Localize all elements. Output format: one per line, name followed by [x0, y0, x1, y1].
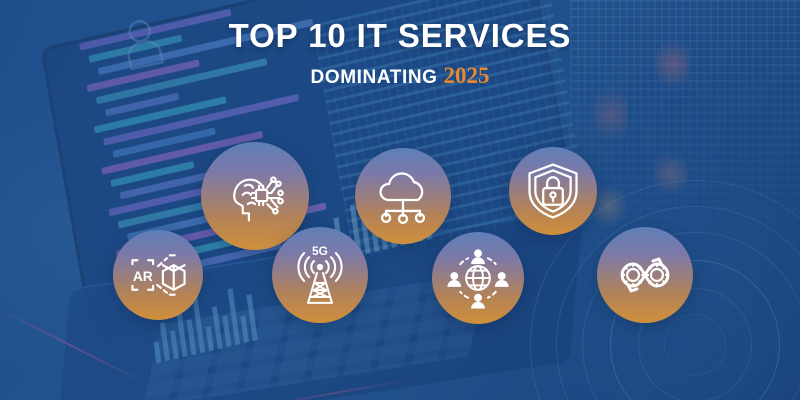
subtitle-prefix: DOMINATING	[311, 67, 438, 88]
augmented-reality-icon[interactable]: AR	[113, 230, 203, 320]
cybersecurity-shield-icon-glyph	[526, 162, 581, 221]
five-g-tower-icon[interactable]: 5G	[272, 227, 368, 323]
accent-line-bottom-right	[251, 377, 419, 400]
accent-line-bottom-left	[0, 303, 151, 387]
heading-block: TOP 10 IT SERVICES DOMINATING 2025	[0, 18, 800, 89]
svg-text:5G: 5G	[312, 244, 328, 258]
chart-bar	[240, 315, 249, 343]
rain-glow-3	[594, 80, 628, 150]
chart-bar	[170, 330, 179, 359]
global-collaboration-icon-glyph	[447, 247, 508, 308]
chart-bar	[212, 306, 223, 349]
page-subtitle: DOMINATING 2025	[0, 63, 800, 89]
code-line	[110, 161, 194, 187]
glow-left	[0, 80, 210, 380]
chart-bar	[206, 326, 214, 351]
banner: TOP 10 IT SERVICES DOMINATING 2025	[0, 0, 800, 400]
five-g-tower-icon-glyph: 5G	[289, 243, 351, 307]
devops-gears-loop-icon[interactable]	[597, 227, 693, 323]
devops-gears-loop-icon-glyph	[611, 251, 679, 299]
chart-bar	[153, 341, 161, 363]
code-line	[112, 127, 216, 158]
code-line	[94, 96, 227, 133]
ai-brain-chip-icon-glyph	[222, 163, 287, 228]
cloud-computing-icon-glyph	[372, 168, 434, 224]
cloud-computing-icon[interactable]	[355, 148, 451, 244]
chart-bar	[228, 288, 241, 345]
chart-bar	[187, 319, 197, 355]
code-line	[105, 93, 179, 117]
chart-bar	[222, 315, 231, 347]
chart-bar	[160, 322, 170, 361]
augmented-reality-icon-glyph: AR	[127, 252, 190, 297]
code-line	[103, 94, 299, 146]
cybersecurity-shield-icon[interactable]	[509, 147, 597, 235]
global-collaboration-icon[interactable]	[432, 232, 524, 324]
svg-text:AR: AR	[133, 269, 153, 284]
rain-glow-2	[654, 148, 688, 200]
subtitle-year: 2025	[443, 63, 489, 88]
chart-bar	[246, 294, 257, 341]
page-title: TOP 10 IT SERVICES	[0, 18, 800, 54]
